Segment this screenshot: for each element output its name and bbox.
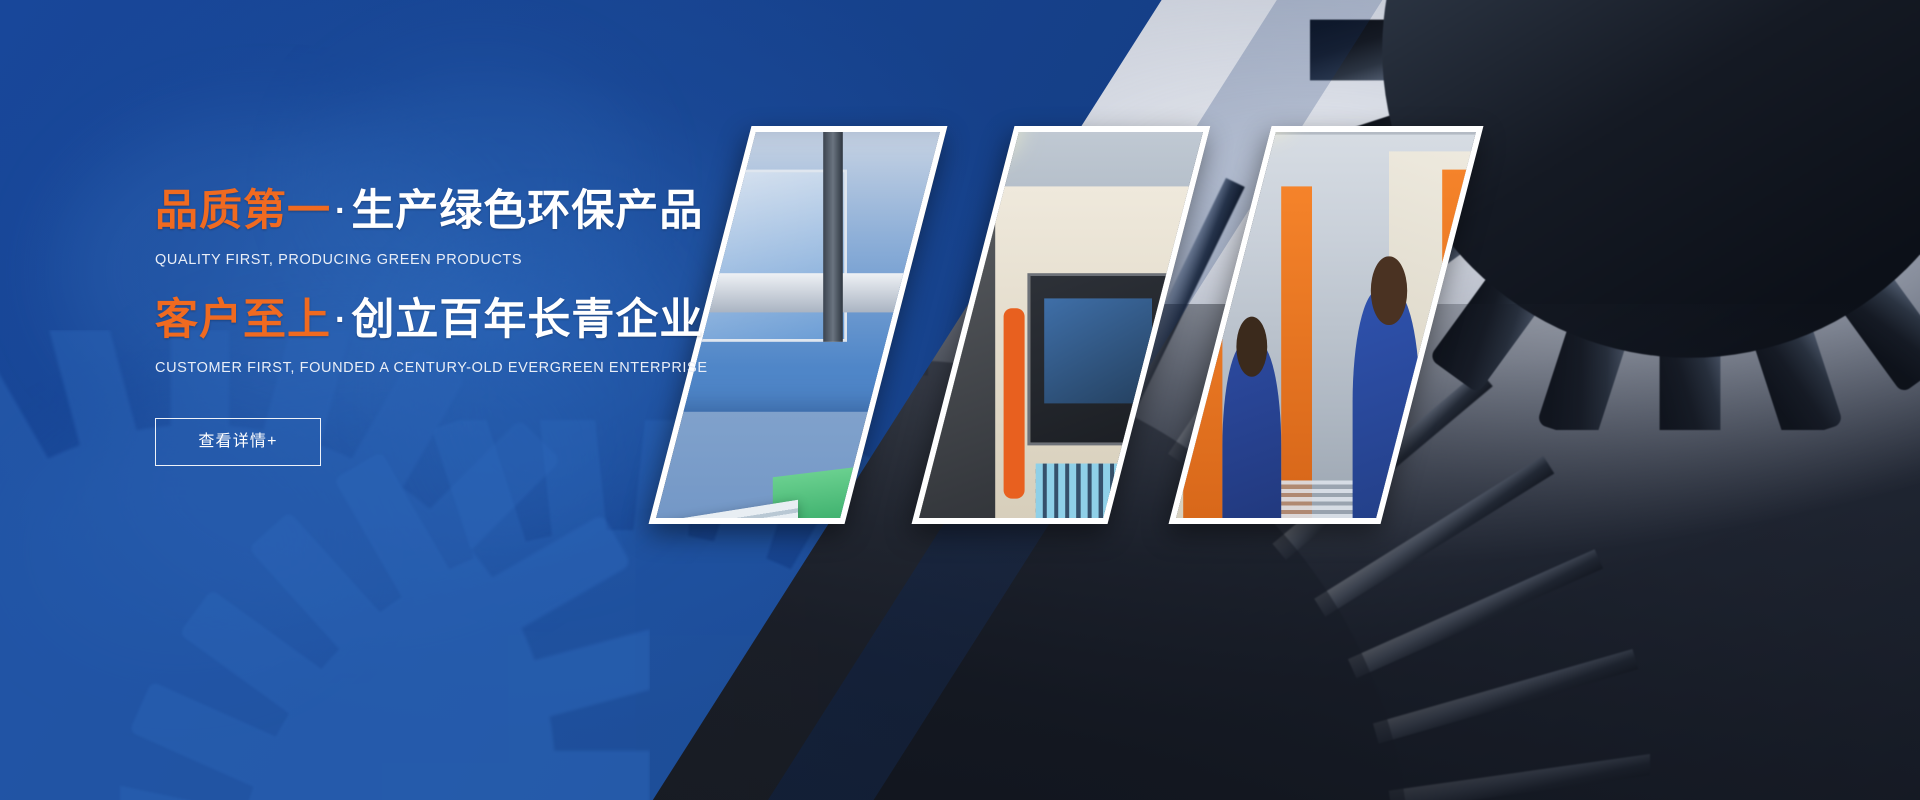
- photo-card-machining-workshop-corridor[interactable]: [1169, 126, 1484, 524]
- headline-primary-separator: ·: [331, 192, 351, 230]
- subtitle-primary: QUALITY FIRST, PRODUCING GREEN PRODUCTS: [155, 252, 915, 268]
- headline-secondary-highlight: 客户至上: [155, 296, 331, 344]
- hero-banner: 品质第一·生产绿色环保产品 QUALITY FIRST, PRODUCING G…: [0, 0, 1920, 800]
- subtitle-secondary: CUSTOMER FIRST, FOUNDED A CENTURY-OLD EV…: [155, 360, 915, 376]
- headline-secondary-separator: ·: [331, 301, 351, 339]
- headline-primary: 品质第一·生产绿色环保产品: [155, 186, 915, 237]
- headline-secondary: 客户至上·创立百年长青企业: [155, 295, 915, 346]
- photo-card-cnc-machine-control-panel[interactable]: [912, 126, 1211, 524]
- headline-primary-rest: 生产绿色环保产品: [351, 187, 703, 235]
- banner-copy: 品质第一·生产绿色环保产品 QUALITY FIRST, PRODUCING G…: [155, 186, 915, 466]
- headline-secondary-rest: 创立百年长青企业: [351, 296, 703, 344]
- view-details-button[interactable]: 查看详情+: [155, 418, 321, 466]
- headline-primary-highlight: 品质第一: [155, 187, 331, 235]
